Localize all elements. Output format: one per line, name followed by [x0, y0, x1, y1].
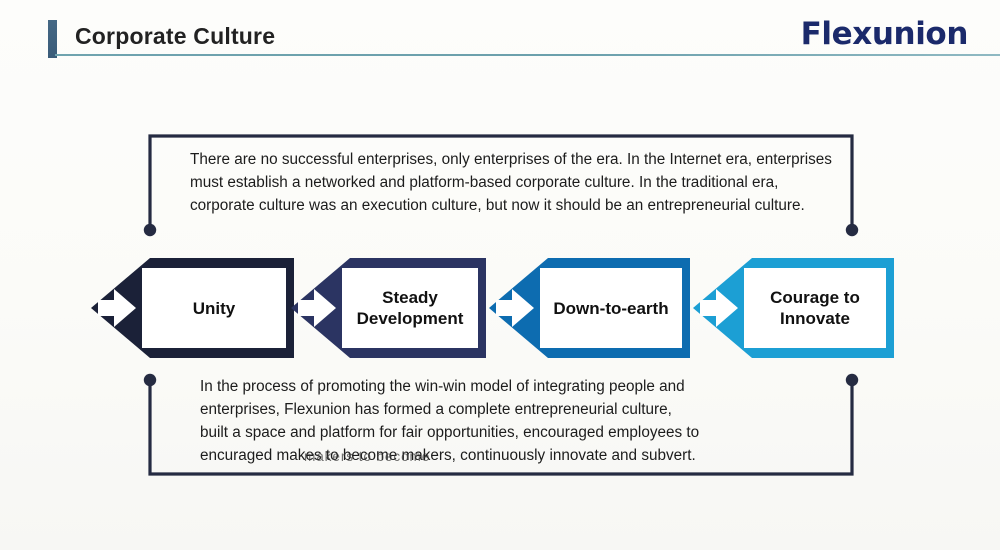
bottom-callout-line-1: In the process of promoting the win-win …: [200, 375, 810, 398]
arrow-courage-to-innovate[interactable]: Courage to Innovate: [690, 256, 896, 360]
arrow-steady-development[interactable]: Steady Development: [288, 256, 488, 360]
bottom-callout-line-4: encuraged makes to become makers, contin…: [200, 444, 696, 467]
arrow-courage-to-innovate-label: Courage to Innovate: [744, 256, 886, 360]
bottom-callout-line-3: built a space and platform for fair oppo…: [200, 421, 810, 444]
bottom-callout-line-4-overlay-artifact: makers to become: [304, 445, 430, 468]
arrow-unity[interactable]: Unity: [88, 256, 296, 360]
header-divider-rule: [55, 54, 1000, 56]
title-accent-bar: [48, 20, 57, 58]
arrow-chevron-row: Unity Steady Development D: [88, 256, 898, 360]
top-callout-text: There are no successful enterprises, onl…: [190, 148, 835, 217]
page-title: Corporate Culture: [75, 23, 275, 50]
arrow-down-to-earth[interactable]: Down-to-earth: [486, 256, 692, 360]
slide-header: Corporate Culture Flexunion: [0, 0, 1000, 66]
arrow-unity-label: Unity: [142, 256, 286, 360]
bottom-callout-line-2: enterprises, Flexunion has formed a comp…: [200, 398, 810, 421]
arrow-steady-development-label: Steady Development: [342, 256, 478, 360]
slide-canvas: Corporate Culture Flexunion There are no…: [0, 0, 1000, 550]
brand-logo: Flexunion: [801, 16, 968, 52]
bottom-callout-line-4-base: encuraged makes to become makers, contin…: [200, 447, 696, 464]
arrow-down-to-earth-label: Down-to-earth: [540, 256, 682, 360]
bottom-callout-text: In the process of promoting the win-win …: [200, 375, 810, 467]
